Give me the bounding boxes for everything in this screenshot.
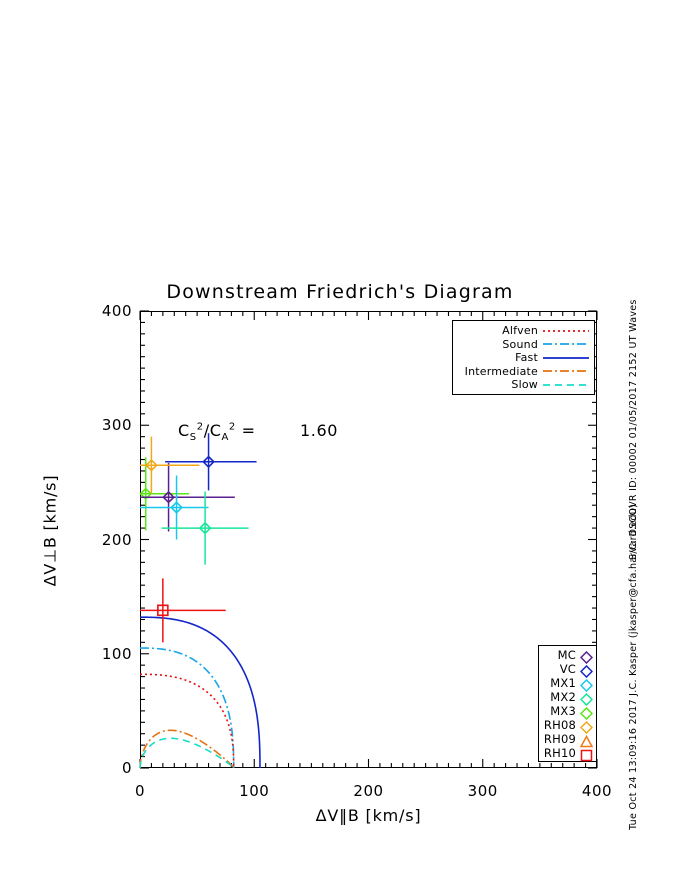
curve-legend-swatch	[542, 380, 590, 390]
y-tick-label: 300	[84, 416, 132, 434]
marker-legend-row: VC	[542, 662, 593, 676]
marker-legend-symbol-diamond	[580, 705, 593, 718]
marker-legend-label: RH10	[544, 746, 576, 760]
marker-legend-label: MC	[558, 648, 576, 662]
data-point-mx3	[140, 457, 189, 530]
x-tick-label: 100	[224, 782, 284, 800]
data-point-rh10	[140, 578, 226, 642]
curve-legend-label: Fast	[515, 351, 538, 364]
marker-legend-symbol-diamond	[580, 649, 593, 662]
curve-legend-label: Sound	[502, 338, 538, 351]
marker-legend-row: MX2	[542, 690, 593, 704]
curve-fast	[140, 617, 260, 768]
marker-legend-label: RH09	[544, 732, 576, 746]
curve-legend-row: Fast	[457, 351, 590, 365]
y-tick-label: 0	[84, 759, 132, 777]
curve-legend-swatch	[542, 366, 590, 376]
marker-legend-symbol-diamond	[580, 691, 593, 704]
curve-legend-label: Slow	[511, 378, 538, 391]
curve-legend-swatch	[542, 339, 590, 349]
curve-sound	[140, 648, 234, 768]
curve-legend-row: Intermediate	[457, 365, 590, 379]
curve-legend-label: Alfven	[502, 324, 538, 337]
marker-legend-label: RH08	[544, 718, 576, 732]
curve-legend-row: Slow	[457, 378, 590, 392]
marker-legend-label: MX3	[550, 704, 576, 718]
curve-legend-row: Sound	[457, 338, 590, 352]
marker-legend-row: RH09	[542, 732, 593, 746]
marker-legend-symbol-diamond	[580, 677, 593, 690]
y-tick-label: 400	[84, 302, 132, 320]
marker-legend-row: MX1	[542, 676, 593, 690]
y-tick-label: 100	[84, 645, 132, 663]
data-point-mc	[140, 463, 235, 532]
marker-legend-symbol-diamond	[580, 663, 593, 676]
plot-canvas: Downstream Friedrich's Diagram ΔV‖B [km/…	[0, 0, 680, 880]
curve-legend-label: Intermediate	[465, 365, 538, 378]
marker-legend-symbol-square	[580, 747, 593, 760]
ratio-expression: CS2/CA2 =	[178, 421, 256, 440]
curve-legend-row: Alfven	[457, 324, 590, 338]
data-point-rh08	[140, 437, 199, 494]
y-tick-label: 200	[84, 531, 132, 549]
ratio-value: 1.60	[300, 421, 338, 440]
curve-legend: AlfvenSoundFastIntermediateSlow	[452, 320, 595, 395]
curve-legend-swatch	[542, 326, 590, 336]
marker-legend-row: MX3	[542, 704, 593, 718]
marker-legend-row: MC	[542, 648, 593, 662]
x-tick-label: 0	[110, 782, 170, 800]
marker-legend-row: RH10	[542, 746, 593, 760]
data-point-mx2	[162, 492, 249, 565]
curve-intermediate	[140, 730, 234, 768]
marker-legend: MCVCMX1MX2MX3RH08RH09RH10	[538, 645, 597, 762]
x-tick-label: 400	[567, 782, 627, 800]
marker-legend-label: MX1	[550, 676, 576, 690]
marker-legend-symbol-triangle	[580, 733, 593, 746]
marker-legend-label: VC	[560, 662, 576, 676]
x-tick-label: 200	[339, 782, 399, 800]
marker-legend-row: RH08	[542, 718, 593, 732]
x-tick-label: 300	[453, 782, 513, 800]
data-point-mx1	[140, 476, 209, 540]
marker-legend-symbol-diamond	[580, 719, 593, 732]
author-credit: Tue Oct 24 13:09:16 2017 J.C. Kasper (jk…	[628, 504, 639, 830]
marker-legend-label: MX2	[550, 690, 576, 704]
curve-legend-swatch	[542, 353, 590, 363]
sound-alfven-ratio-label: CS2/CA2 =	[178, 421, 256, 443]
